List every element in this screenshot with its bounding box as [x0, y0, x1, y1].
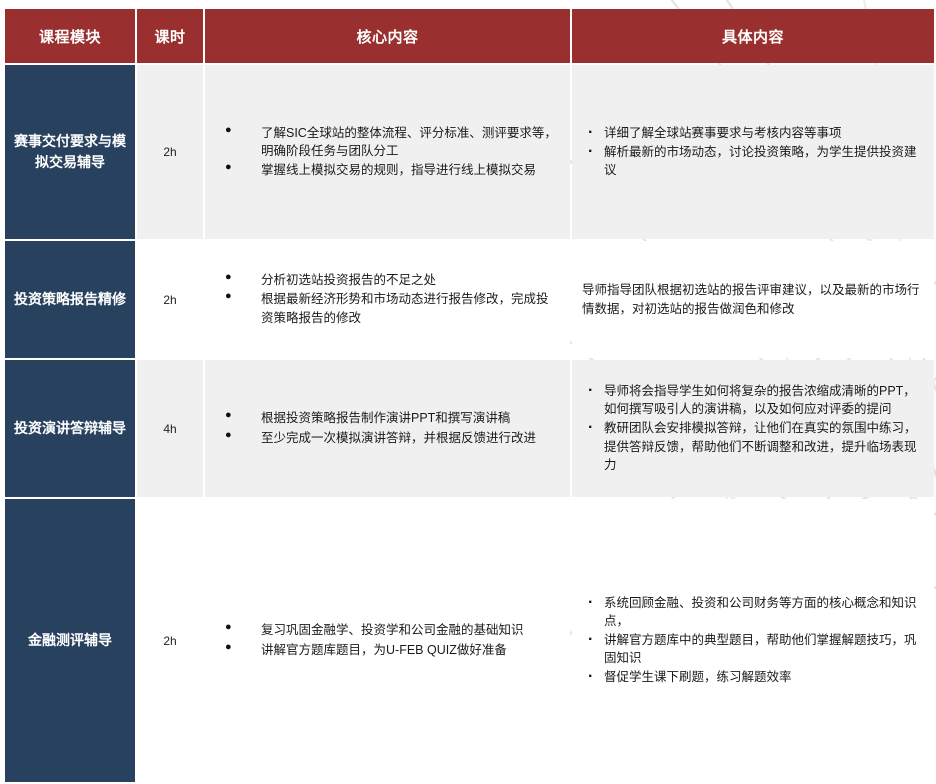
specific-content-list: 系统回顾金融、投资和公司财务等方面的核心概念和知识点， 讲解官方题库中的典型题目…: [582, 594, 924, 687]
list-item: 了解SIC全球站的整体流程、评分标准、测评要求等，明确阶段任务与团队分工: [211, 124, 560, 160]
list-item: 掌握线上模拟交易的规则，指导进行线上模拟交易: [211, 161, 560, 179]
table-header-row: 课程模块 课时 核心内容 具体内容: [5, 9, 934, 63]
core-content-cell: 了解SIC全球站的整体流程、评分标准、测评要求等，明确阶段任务与团队分工 掌握线…: [205, 65, 570, 239]
specific-content-cell: 导师将会指导学生如何将复杂的报告浓缩成清晰的PPT，如何撰写吸引人的演讲稿，以及…: [572, 360, 934, 497]
specific-content-list: 详细了解全球站赛事要求与考核内容等事项 解析最新的市场动态，讨论投资策略，为学生…: [582, 124, 924, 179]
list-item: 详细了解全球站赛事要求与考核内容等事项: [582, 124, 924, 142]
module-name-cell: 投资演讲答辩辅导: [5, 360, 135, 497]
specific-content-paragraph: 导师指导团队根据初选站的报告评审建议，以及最新的市场行情数据，对初选站的报告做润…: [582, 281, 924, 317]
core-content-list: 复习巩固金融学、投资学和公司金融的基础知识 讲解官方题库题目，为U-FEB QU…: [211, 621, 560, 658]
core-content-cell: 根据投资策略报告制作演讲PPT和撰写演讲稿 至少完成一次模拟演讲答辩，并根据反馈…: [205, 360, 570, 497]
header-specific-content: 具体内容: [572, 9, 934, 63]
specific-content-cell: 详细了解全球站赛事要求与考核内容等事项 解析最新的市场动态，讨论投资策略，为学生…: [572, 65, 934, 239]
header-course-module: 课程模块: [5, 9, 135, 63]
list-item: 分析初选站投资报告的不足之处: [211, 271, 560, 289]
list-item: 讲解官方题库中的典型题目，帮助他们掌握解题技巧，巩固知识: [582, 631, 924, 667]
course-schedule-table-container: 课程模块 课时 核心内容 具体内容 赛事交付要求与模拟交易辅导 2h 了解SIC…: [3, 7, 932, 743]
class-hours-cell: 2h: [137, 65, 203, 239]
list-item: 督促学生课下刷题，练习解题效率: [582, 668, 924, 686]
core-content-list: 根据投资策略报告制作演讲PPT和撰写演讲稿 至少完成一次模拟演讲答辩，并根据反馈…: [211, 409, 560, 446]
table-header: 课程模块 课时 核心内容 具体内容: [5, 9, 934, 63]
module-name-cell: 金融测评辅导: [5, 499, 135, 782]
list-item: 系统回顾金融、投资和公司财务等方面的核心概念和知识点，: [582, 594, 924, 630]
table-body: 赛事交付要求与模拟交易辅导 2h 了解SIC全球站的整体流程、评分标准、测评要求…: [5, 65, 934, 782]
core-content-cell: 复习巩固金融学、投资学和公司金融的基础知识 讲解官方题库题目，为U-FEB QU…: [205, 499, 570, 782]
core-content-cell: 分析初选站投资报告的不足之处 根据最新经济形势和市场动态进行报告修改，完成投资策…: [205, 241, 570, 358]
list-item: 根据最新经济形势和市场动态进行报告修改，完成投资策略报告的修改: [211, 290, 560, 326]
module-name-cell: 投资策略报告精修: [5, 241, 135, 358]
list-item: 教研团队会安排模拟答辩，让他们在真实的氛围中练习，提供答辩反馈，帮助他们不断调整…: [582, 419, 924, 473]
header-core-content: 核心内容: [205, 9, 570, 63]
list-item: 复习巩固金融学、投资学和公司金融的基础知识: [211, 621, 560, 639]
course-schedule-table: 课程模块 课时 核心内容 具体内容 赛事交付要求与模拟交易辅导 2h 了解SIC…: [3, 7, 936, 784]
list-item: 至少完成一次模拟演讲答辩，并根据反馈进行改进: [211, 429, 560, 447]
class-hours-cell: 2h: [137, 241, 203, 358]
specific-content-cell: 系统回顾金融、投资和公司财务等方面的核心概念和知识点， 讲解官方题库中的典型题目…: [572, 499, 934, 782]
core-content-list: 分析初选站投资报告的不足之处 根据最新经济形势和市场动态进行报告修改，完成投资策…: [211, 271, 560, 326]
list-item: 导师将会指导学生如何将复杂的报告浓缩成清晰的PPT，如何撰写吸引人的演讲稿，以及…: [582, 382, 924, 418]
table-row: 投资策略报告精修 2h 分析初选站投资报告的不足之处 根据最新经济形势和市场动态…: [5, 241, 934, 358]
module-name-cell: 赛事交付要求与模拟交易辅导: [5, 65, 135, 239]
table-row: 投资演讲答辩辅导 4h 根据投资策略报告制作演讲PPT和撰写演讲稿 至少完成一次…: [5, 360, 934, 497]
table-row: 赛事交付要求与模拟交易辅导 2h 了解SIC全球站的整体流程、评分标准、测评要求…: [5, 65, 934, 239]
specific-content-cell: 导师指导团队根据初选站的报告评审建议，以及最新的市场行情数据，对初选站的报告做润…: [572, 241, 934, 358]
list-item: 根据投资策略报告制作演讲PPT和撰写演讲稿: [211, 409, 560, 427]
class-hours-cell: 4h: [137, 360, 203, 497]
core-content-list: 了解SIC全球站的整体流程、评分标准、测评要求等，明确阶段任务与团队分工 掌握线…: [211, 124, 560, 179]
list-item: 解析最新的市场动态，讨论投资策略，为学生提供投资建议: [582, 143, 924, 179]
class-hours-cell: 2h: [137, 499, 203, 782]
specific-content-list: 导师将会指导学生如何将复杂的报告浓缩成清晰的PPT，如何撰写吸引人的演讲稿，以及…: [582, 382, 924, 474]
header-class-hours: 课时: [137, 9, 203, 63]
table-row: 金融测评辅导 2h 复习巩固金融学、投资学和公司金融的基础知识 讲解官方题库题目…: [5, 499, 934, 782]
list-item: 讲解官方题库题目，为U-FEB QUIZ做好准备: [211, 641, 560, 659]
